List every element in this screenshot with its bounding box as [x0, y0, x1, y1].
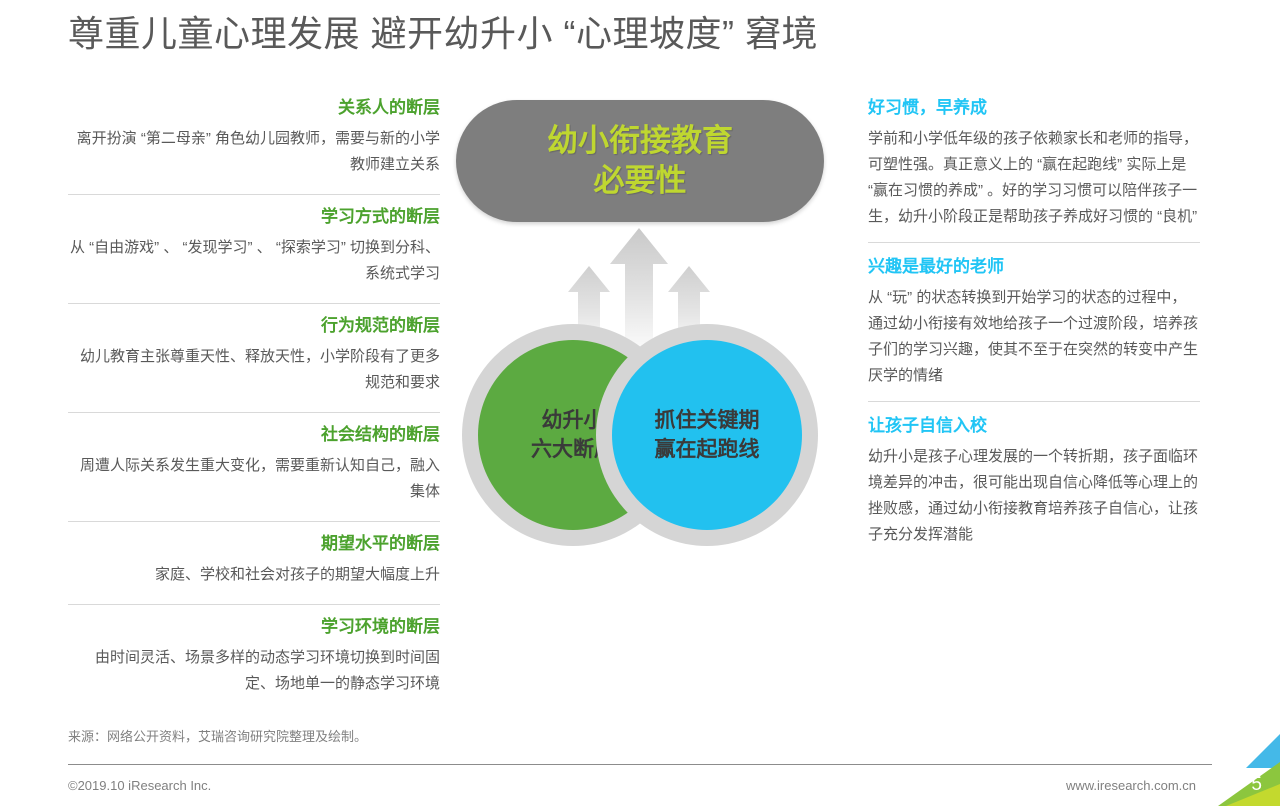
- right-item-body: 幼升小是孩子心理发展的一个转折期，孩子面临环境差异的冲击，很可能出现自信心降低等…: [868, 444, 1200, 548]
- left-column: 关系人的断层 离开扮演 “第二母亲” 角色幼儿园教师，需要与新的小学教师建立关系…: [68, 96, 440, 705]
- list-divider: [68, 521, 440, 522]
- right-item-heading: 让孩子自信入校: [868, 414, 1200, 438]
- left-item-heading: 社会结构的断层: [68, 423, 440, 447]
- left-item-heading: 行为规范的断层: [68, 314, 440, 338]
- left-item-heading: 学习环境的断层: [68, 615, 440, 639]
- right-column: 好习惯，早养成 学前和小学低年级的孩子依赖家长和老师的指导，可塑性强。真正意义上…: [868, 96, 1200, 554]
- venn-circles: 幼升小 六大断层 抓住关键期 赢在起跑线: [462, 324, 818, 546]
- left-item-body: 周遭人际关系发生重大变化，需要重新认知自己，融入集体: [68, 453, 440, 505]
- list-divider: [868, 401, 1200, 402]
- page-number: 5: [1251, 774, 1262, 796]
- left-item-body: 由时间灵活、场景多样的动态学习环境切换到时间固定、场地单一的静态学习环境: [68, 645, 440, 697]
- list-divider: [68, 604, 440, 605]
- left-item-heading: 期望水平的断层: [68, 532, 440, 556]
- list-divider: [68, 303, 440, 304]
- website-url: www.iresearch.com.cn: [1066, 776, 1196, 796]
- copyright-text: ©2019.10 iResearch Inc.: [68, 776, 211, 796]
- left-item-body: 从 “自由游戏” 、 “发现学习” 、 “探索学习” 切换到分科、系统式学习: [68, 235, 440, 287]
- right-item-body: 学前和小学低年级的孩子依赖家长和老师的指导，可塑性强。真正意义上的 “赢在起跑线…: [868, 126, 1200, 230]
- left-item-body: 幼儿教育主张尊重天性、释放天性，小学阶段有了更多规范和要求: [68, 344, 440, 396]
- corner-logo-mark: [1190, 734, 1280, 806]
- list-item: 行为规范的断层 幼儿教育主张尊重天性、释放天性，小学阶段有了更多规范和要求: [68, 314, 440, 404]
- center-diagram: 幼小衔接教育 必要性: [448, 96, 832, 546]
- list-item: 社会结构的断层 周遭人际关系发生重大变化，需要重新认知自己，融入集体: [68, 423, 440, 513]
- footer-divider: [68, 764, 1212, 765]
- list-item: 好习惯，早养成 学前和小学低年级的孩子依赖家长和老师的指导，可塑性强。真正意义上…: [868, 96, 1200, 236]
- right-item-heading: 好习惯，早养成: [868, 96, 1200, 120]
- left-item-body: 离开扮演 “第二母亲” 角色幼儿园教师，需要与新的小学教师建立关系: [68, 126, 440, 178]
- right-circle: 抓住关键期 赢在起跑线: [612, 340, 802, 530]
- list-item: 学习方式的断层 从 “自由游戏” 、 “发现学习” 、 “探索学习” 切换到分科…: [68, 205, 440, 295]
- list-divider: [68, 194, 440, 195]
- necessity-pill: 幼小衔接教育 必要性: [456, 100, 824, 222]
- left-item-body: 家庭、学校和社会对孩子的期望大幅度上升: [68, 562, 440, 588]
- right-item-heading: 兴趣是最好的老师: [868, 255, 1200, 279]
- list-item: 期望水平的断层 家庭、学校和社会对孩子的期望大幅度上升: [68, 532, 440, 596]
- right-item-body: 从 “玩” 的状态转换到开始学习的状态的过程中，通过幼小衔接有效地给孩子一个过渡…: [868, 285, 1200, 389]
- list-item: 让孩子自信入校 幼升小是孩子心理发展的一个转折期，孩子面临环境差异的冲击，很可能…: [868, 414, 1200, 554]
- left-item-heading: 学习方式的断层: [68, 205, 440, 229]
- list-item: 兴趣是最好的老师 从 “玩” 的状态转换到开始学习的状态的过程中，通过幼小衔接有…: [868, 255, 1200, 395]
- list-divider: [68, 412, 440, 413]
- page-title: 尊重儿童心理发展 避开幼升小 “心理坡度” 窘境: [68, 8, 1218, 60]
- left-item-heading: 关系人的断层: [68, 96, 440, 120]
- list-item: 学习环境的断层 由时间灵活、场景多样的动态学习环境切换到时间固定、场地单一的静态…: [68, 615, 440, 705]
- necessity-pill-label: 幼小衔接教育 必要性: [547, 121, 733, 201]
- source-note: 来源：网络公开资料，艾瑞咨询研究院整理及绘制。: [68, 727, 367, 747]
- list-item: 关系人的断层 离开扮演 “第二母亲” 角色幼儿园教师，需要与新的小学教师建立关系: [68, 96, 440, 186]
- list-divider: [868, 242, 1200, 243]
